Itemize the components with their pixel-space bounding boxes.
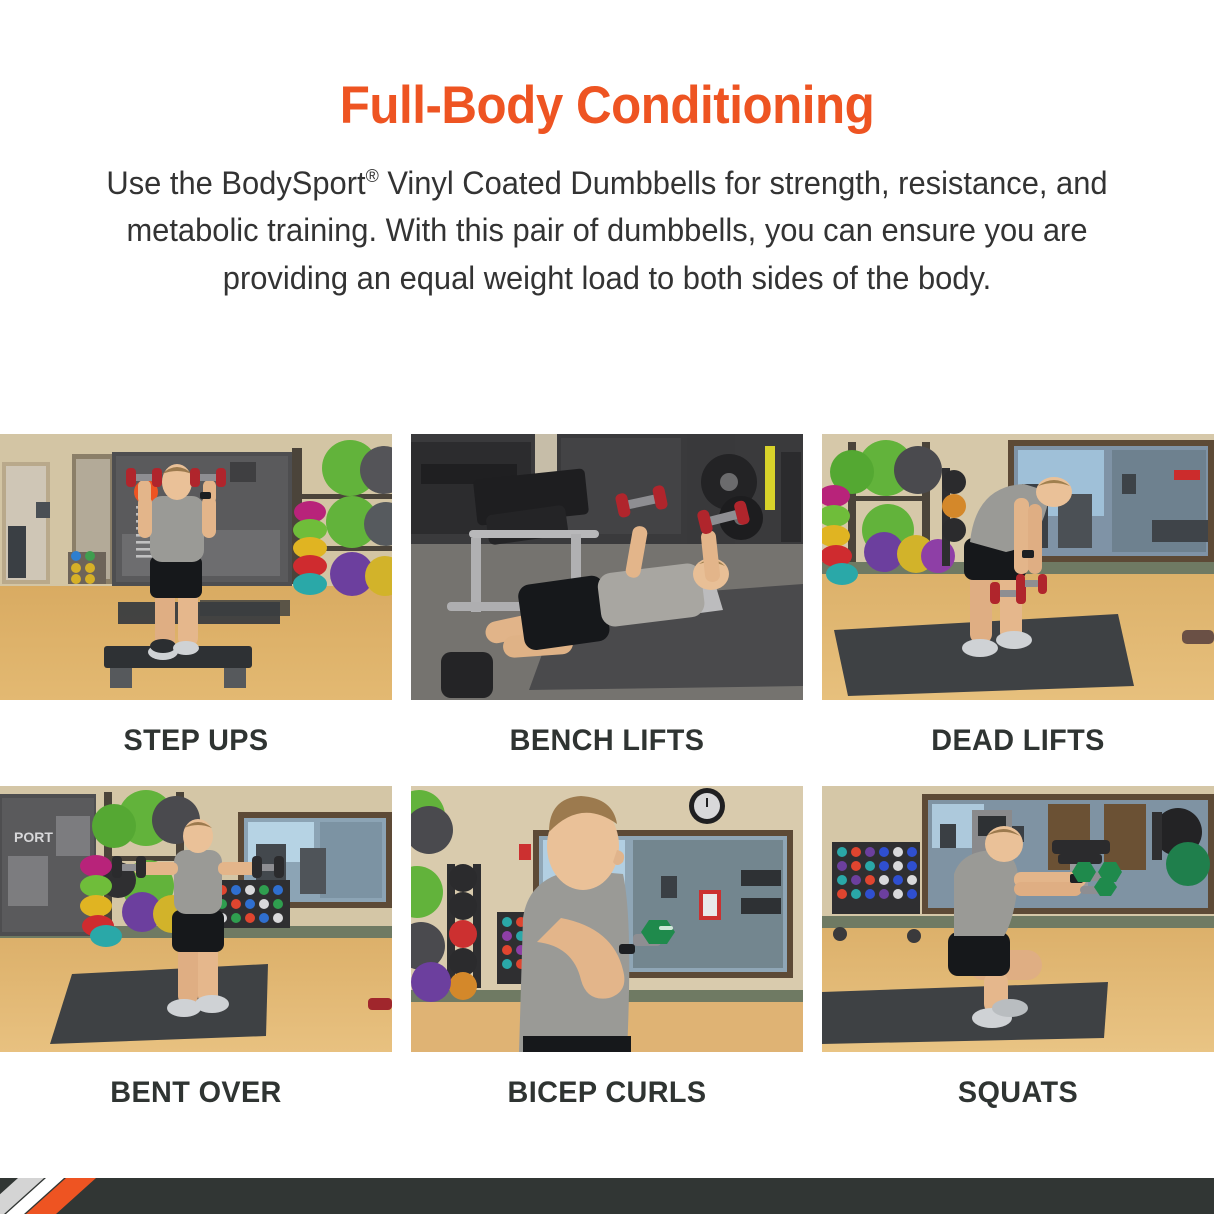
photo-squats: [822, 786, 1214, 1052]
grid-gap: [803, 434, 822, 786]
exercise-card-dead-lifts[interactable]: DEAD LIFTS: [822, 434, 1214, 786]
exercise-card-squats[interactable]: SQUATS: [822, 786, 1214, 1138]
exercise-card-bench-lifts[interactable]: BENCH LIFTS: [411, 434, 803, 786]
header: Full-Body Conditioning Use the BodySport…: [0, 0, 1214, 303]
grid-gap: [803, 786, 822, 1138]
svg-text:PORT: PORT: [14, 829, 53, 845]
promo-page: Full-Body Conditioning Use the BodySport…: [0, 0, 1214, 1214]
page-title: Full-Body Conditioning: [42, 78, 1171, 134]
caption-squats: SQUATS: [830, 1052, 1206, 1138]
photo-bench-lifts: [411, 434, 803, 700]
photo-dead-lifts: [822, 434, 1214, 700]
intro-paragraph: Use the BodySport® Vinyl Coated Dumbbell…: [104, 160, 1111, 303]
exercise-row-1: B: [0, 434, 1214, 786]
registered-mark: ®: [366, 165, 379, 186]
caption-dead-lifts: DEAD LIFTS: [830, 700, 1206, 786]
intro-text-part1: Use the BodySport: [106, 165, 365, 201]
exercise-card-bicep-curls[interactable]: BICEP CURLS: [411, 786, 803, 1138]
caption-step-ups: STEP UPS: [8, 700, 384, 786]
grid-gap: [392, 434, 411, 786]
caption-bent-over: BENT OVER: [8, 1052, 384, 1138]
exercise-card-bent-over[interactable]: PORT: [0, 786, 392, 1138]
exercise-grid: B: [0, 434, 1214, 1138]
photo-bicep-curls: [411, 786, 803, 1052]
caption-bicep-curls: BICEP CURLS: [419, 1052, 795, 1138]
photo-bent-over: PORT: [0, 786, 392, 1052]
photo-step-ups: B: [0, 434, 392, 700]
caption-bench-lifts: BENCH LIFTS: [419, 700, 795, 786]
exercise-card-step-ups[interactable]: B: [0, 434, 392, 786]
footer-bar: [0, 1178, 1214, 1214]
exercise-row-2: PORT: [0, 786, 1214, 1138]
grid-gap: [392, 786, 411, 1138]
